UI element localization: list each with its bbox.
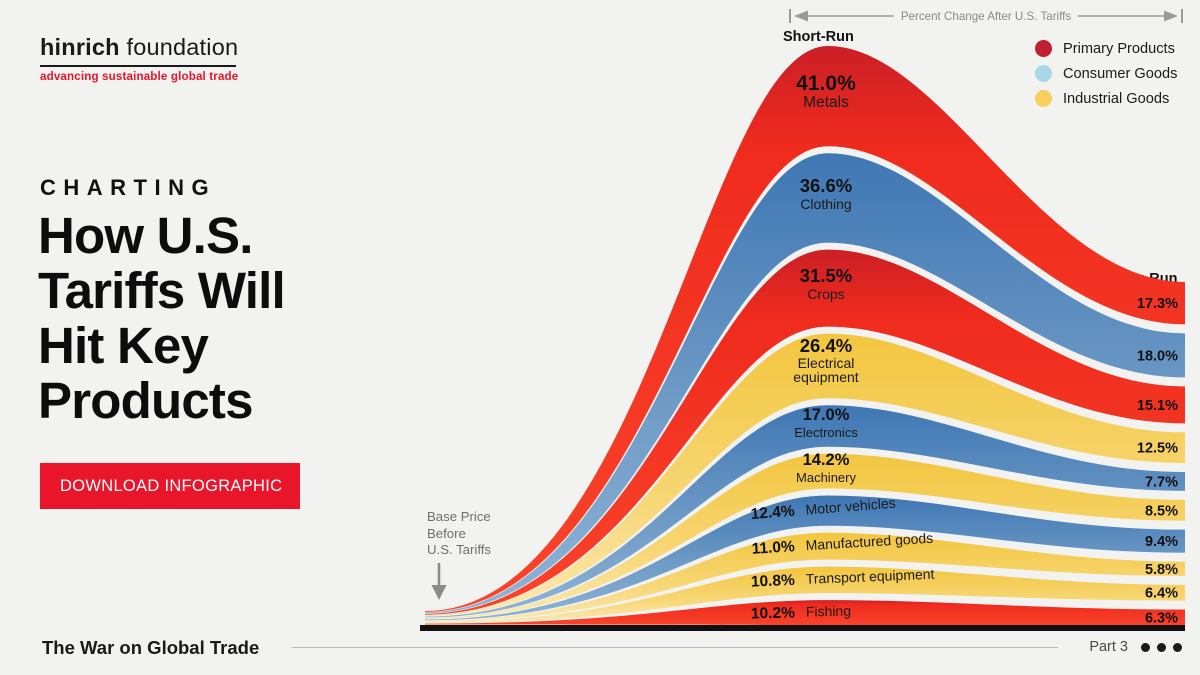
short-run-value: 31.5%	[800, 265, 852, 286]
footer-dot-1	[1141, 643, 1150, 652]
long-run-value: 17.3%	[1137, 296, 1178, 312]
short-run-value: 26.4%	[800, 335, 852, 356]
long-run-value: 9.4%	[1145, 534, 1178, 550]
axis-label-background: Percent Change After U.S. Tariffs	[894, 7, 1078, 25]
footer-part-label: Part 3	[1089, 639, 1128, 655]
band-label: 17.0%Electronics	[794, 406, 858, 440]
product-name: Metals	[803, 94, 849, 111]
short-run-value: 41.0%	[796, 72, 856, 95]
band-label: 36.6%Clothing	[800, 175, 852, 212]
short-run-value: 36.6%	[800, 175, 852, 196]
product-name: equipment	[793, 369, 858, 385]
axis-label: Percent Change After U.S. Tariffs	[901, 10, 1071, 23]
long-run-value: 8.5%	[1145, 503, 1178, 519]
product-name: Crops	[807, 286, 844, 302]
short-run-value: 10.8%	[751, 572, 796, 591]
band-label: 31.5%Crops	[800, 265, 852, 302]
infographic-page: hinrich foundation advancing sustainable…	[0, 0, 1200, 675]
footer-title: The War on Global Trade	[42, 637, 259, 659]
short-run-value: 17.0%	[803, 406, 850, 424]
footer-progress-dots[interactable]	[1141, 643, 1182, 652]
product-name: Electronics	[794, 425, 858, 440]
long-run-value: 6.4%	[1145, 586, 1178, 602]
footer: The War on Global Trade Part 3	[0, 630, 1200, 675]
footer-dot-3	[1173, 643, 1182, 652]
long-run-value: 12.5%	[1137, 441, 1178, 457]
band-label: 41.0%Metals	[796, 72, 856, 111]
short-run-value: 14.2%	[803, 451, 850, 469]
long-run-value: 5.8%	[1145, 562, 1178, 578]
long-run-value: 18.0%	[1137, 348, 1178, 364]
long-run-value: 15.1%	[1137, 398, 1178, 414]
band-label: 26.4%Electricalequipment	[793, 335, 858, 385]
short-run-value: 12.4%	[750, 503, 795, 523]
product-name: Clothing	[800, 196, 851, 212]
long-run-value: 7.7%	[1145, 474, 1178, 490]
footer-dot-2	[1157, 643, 1166, 652]
product-name: Machinery	[796, 470, 856, 485]
stream-chart: 41.0%Metals36.6%Clothing31.5%Crops26.4%E…	[0, 0, 1200, 675]
short-run-value: 11.0%	[751, 538, 795, 558]
product-name: Fishing	[806, 603, 851, 620]
short-run-value: 10.2%	[751, 605, 796, 623]
footer-divider	[292, 647, 1058, 648]
band-label: 14.2%Machinery	[796, 451, 856, 485]
long-run-value: 6.3%	[1145, 610, 1178, 626]
